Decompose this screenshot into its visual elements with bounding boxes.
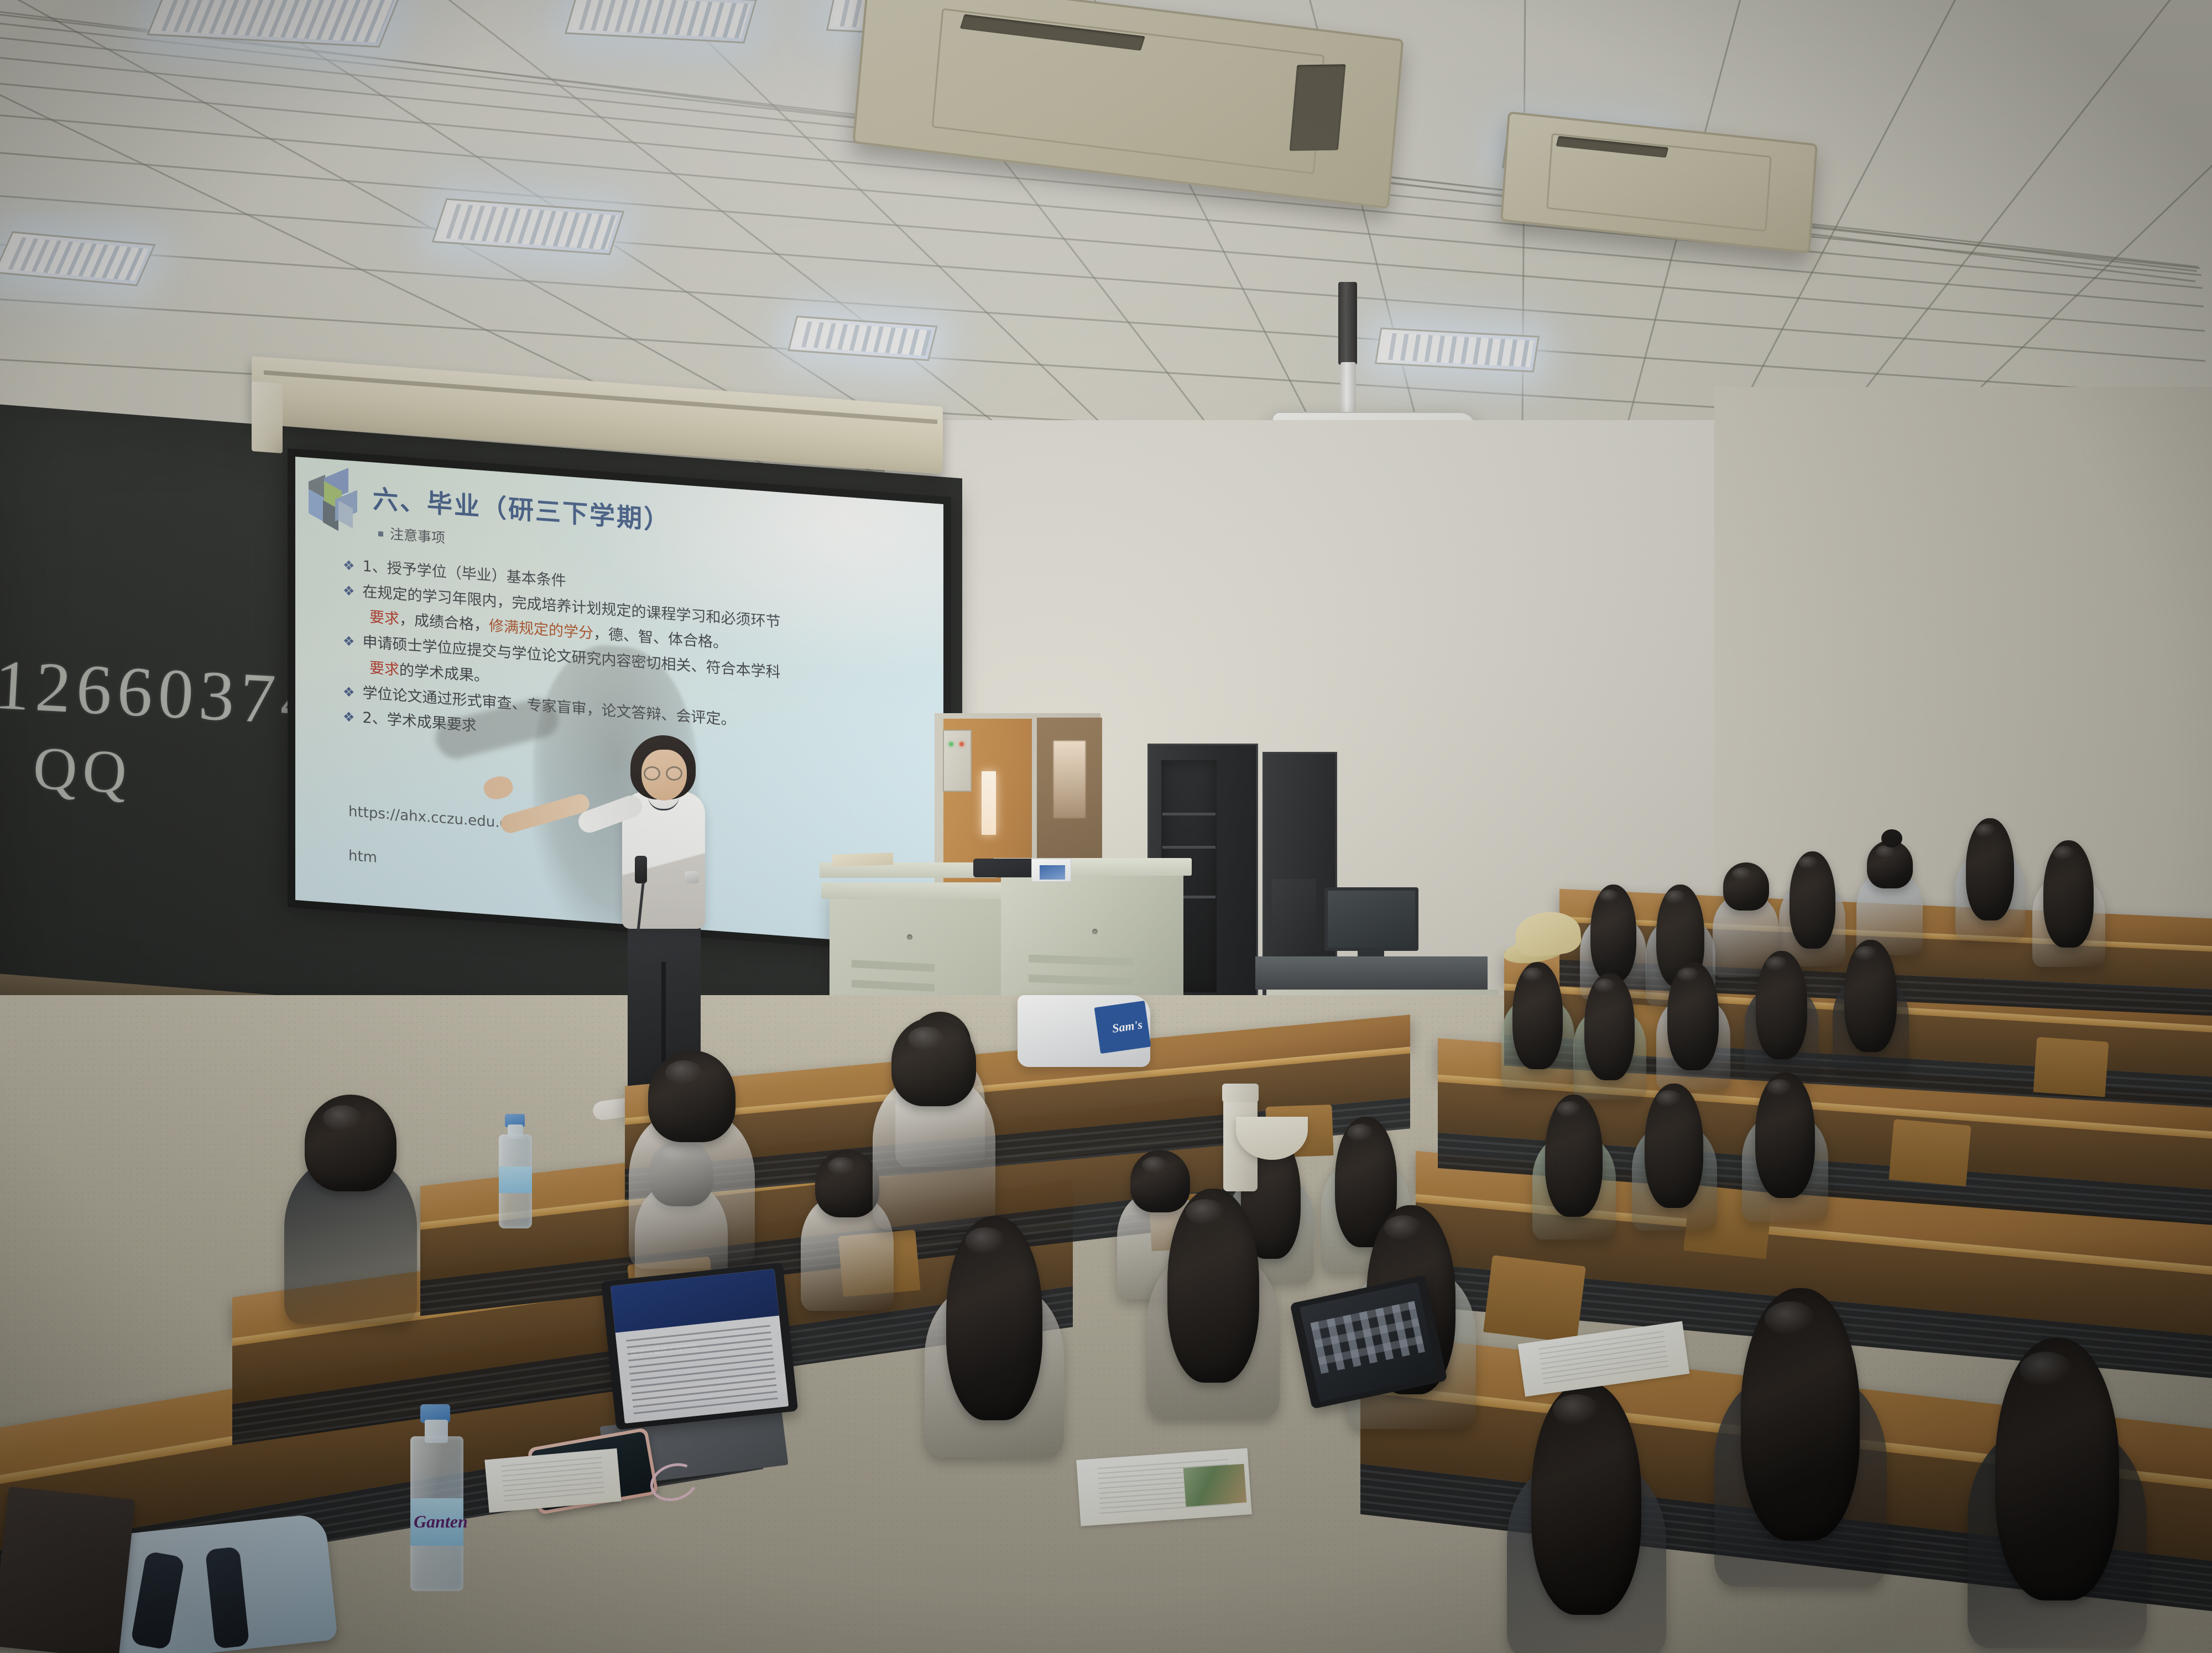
chalkboard-number: 12660374: [0, 644, 324, 742]
hair-highlight: [323, 1105, 362, 1131]
hair-highlight: [1186, 1199, 1225, 1225]
rack-shelf: [1162, 813, 1215, 815]
water-bottle-mid: [499, 1134, 532, 1228]
equipment-desk: [1255, 956, 1488, 990]
ac-grille-1: [931, 8, 1325, 174]
hair-highlight: [828, 1157, 855, 1175]
water-bottle-front: Ganten: [410, 1436, 463, 1591]
projection-screen-frame: 六、毕业（研三下学期） 注意事项 ❖1、授予学位（毕业）基本条件❖在规定的学习年…: [288, 448, 951, 956]
hair-highlight: [1975, 824, 1996, 838]
hair-highlight: [1798, 856, 1818, 869]
projector-mount-pole-upper: [1338, 282, 1357, 365]
hair-highlight: [1666, 890, 1686, 904]
hair-highlight: [908, 1027, 945, 1050]
computer-tower: [1272, 879, 1316, 959]
tablet-app-icons: [1311, 1301, 1425, 1374]
plastic-shopping-bag: Sam's: [1018, 995, 1150, 1067]
computer-monitor[interactable]: [1324, 887, 1418, 951]
website-body-text: [626, 1325, 778, 1414]
hair-highlight: [1766, 956, 1788, 971]
handout-text-lines: [501, 1457, 605, 1504]
hair-highlight: [965, 1227, 1006, 1254]
bullet-diamond-icon: ❖: [343, 633, 355, 650]
website-header-banner: [611, 1269, 779, 1333]
glasses-lens-right-icon: [666, 766, 682, 781]
hair-highlight: [1347, 1124, 1374, 1142]
hair-highlight: [1522, 967, 1544, 982]
booklet-photo: [1183, 1464, 1247, 1507]
classroom-scene: EPSON 12660374 QQ 六、毕业（研三下学期） 注意事项 ❖1、授予…: [0, 0, 2212, 1653]
hair-highlight: [1732, 867, 1752, 880]
hair-highlight: [1594, 979, 1616, 993]
hair-highlight: [1599, 890, 1619, 902]
door-window: [982, 771, 996, 835]
door-glass-reflection: [1053, 741, 1086, 818]
rack-shelf: [1162, 846, 1215, 849]
podium-papers: [832, 852, 894, 867]
slide-subtitle-marker: [378, 531, 383, 537]
hair-highlight: [1767, 1079, 1792, 1096]
slide-link-line-2: htm: [348, 848, 377, 866]
podium-lock-icon: [907, 934, 912, 940]
hair-highlight: [665, 1060, 703, 1085]
bottle-label: [499, 1166, 532, 1193]
laptop-sleeve: [973, 859, 1040, 877]
presentation-clicker[interactable]: [635, 856, 647, 883]
slide-subtitle: 注意事项: [378, 522, 445, 547]
hair-highlight: [2053, 846, 2075, 860]
hair-highlight: [1384, 1215, 1422, 1241]
bullet-diamond-icon: ❖: [343, 684, 355, 700]
bullet-diamond-icon: ❖: [343, 583, 355, 599]
bullet-diamond-icon: ❖: [343, 557, 355, 574]
seat-back[interactable]: [1888, 1119, 1971, 1186]
tissue-box-label: [1040, 865, 1065, 880]
lectern-lock-icon: [1092, 929, 1098, 934]
hair-highlight: [1142, 1157, 1167, 1173]
bullet-diamond-icon: ❖: [343, 709, 355, 726]
hair-bun: [1881, 829, 1902, 848]
ac-vent-louver: [1290, 65, 1345, 151]
seat-back[interactable]: [2033, 1037, 2109, 1097]
slide-link-line-1[interactable]: https://ahx.cczu.edu.cn/: [348, 803, 521, 833]
hair-highlight: [1765, 1301, 1815, 1335]
hair-highlight: [2020, 1352, 2073, 1387]
booklet-text-lines: [1538, 1331, 1668, 1387]
electrical-panel[interactable]: [943, 730, 972, 792]
wristwatch: [685, 871, 699, 883]
seat-back[interactable]: [1483, 1255, 1586, 1343]
hair-highlight: [1855, 946, 1877, 961]
tablet-screen[interactable]: 医学与健康工程学院: [611, 1269, 789, 1424]
projector-screen-housing-endcap: [252, 381, 283, 453]
panel-red-led-icon: [959, 742, 964, 746]
bottle-brand-text: Ganten: [414, 1511, 468, 1532]
vacuum-flask-lid: [1222, 1084, 1259, 1102]
hair-highlight: [1656, 1090, 1682, 1107]
projector-mount-pole-lower: [1340, 362, 1356, 412]
tablet-screen-secondary[interactable]: [1300, 1282, 1438, 1402]
glasses-lens-left-icon: [644, 766, 660, 781]
backpack: [0, 1487, 135, 1653]
tablet-device[interactable]: 医学与健康工程学院: [601, 1262, 798, 1430]
hair-highlight: [1553, 1394, 1600, 1425]
panel-green-led-icon: [949, 742, 953, 746]
hair-highlight: [1677, 967, 1699, 982]
hair-highlight: [1557, 1101, 1582, 1117]
chalkboard-qq-label: QQ: [32, 733, 134, 808]
booklet-front-right: [1076, 1448, 1252, 1526]
slide-logo-icon: [307, 468, 358, 533]
